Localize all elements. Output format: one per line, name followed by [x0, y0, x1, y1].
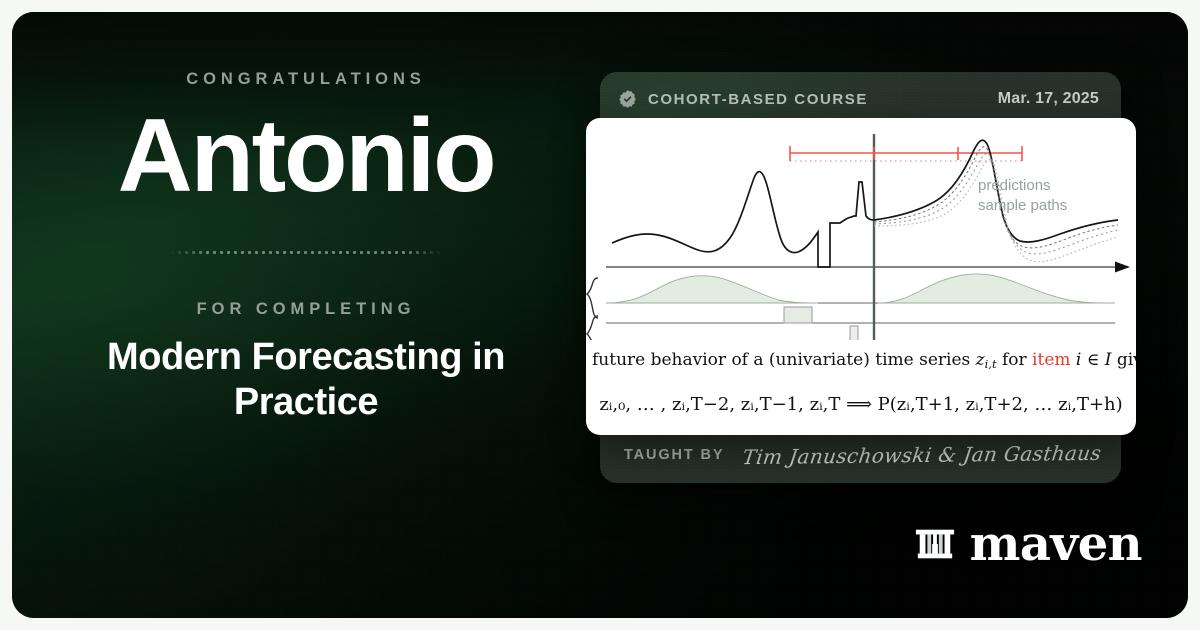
dotted-divider [169, 251, 443, 254]
course-title: Modern Forecasting in Practice [14, 335, 598, 424]
seasonality-density-right [878, 274, 1115, 303]
formula-variable-z-subscript: i,t [985, 357, 997, 371]
event-indicator-bar [850, 326, 858, 340]
formula-text-before: future behavior of a (univariate) time s… [592, 350, 976, 370]
for-completing-label: FOR COMPLETING [14, 300, 598, 319]
brace-lower-icon [587, 316, 598, 340]
formula-variable-z: z [976, 350, 985, 370]
course-card-footer: TAUGHT BY Tim Januschowski & Jan Gasthau… [600, 427, 1121, 483]
forecasting-chart: predictions sample paths [586, 118, 1136, 340]
course-kicker-label: COHORT-BASED COURSE [648, 91, 868, 108]
maven-logo: maven [914, 520, 1142, 568]
recipient-name: Antonio [14, 103, 598, 209]
chart-svg: predictions sample paths [586, 120, 1136, 340]
formula-sentence: future behavior of a (univariate) time s… [586, 350, 1136, 371]
chart-axis-arrowhead [1115, 262, 1130, 273]
formula-text-after: giv [1117, 350, 1136, 370]
formula-equation: zᵢ,₀, … , zᵢ,T−2, zᵢ,T−1, zᵢ,T ⟹ P(zᵢ,T+… [586, 394, 1136, 415]
forecast-horizon-span [790, 146, 1022, 161]
promotion-indicator-bar [784, 307, 812, 323]
congratulations-eyebrow: CONGRATULATIONS [14, 70, 598, 89]
observed-history-line [612, 172, 874, 267]
certificate-stage: CONGRATULATIONS Antonio FOR COMPLETING M… [0, 0, 1200, 630]
course-date: Mar. 17, 2025 [998, 90, 1099, 108]
maven-wordmark: maven [970, 520, 1142, 568]
course-kicker-group: COHORT-BASED COURSE [617, 89, 868, 110]
slide-preview-card: predictions sample paths future behavior… [586, 118, 1136, 435]
predictions-label-line2: sample paths [978, 197, 1067, 214]
brace-upper-icon [587, 278, 598, 318]
formula-text-mid: for [997, 350, 1032, 370]
slide-formula-block: future behavior of a (univariate) time s… [586, 340, 1136, 435]
maven-column-icon [914, 523, 956, 565]
taught-by-label: TAUGHT BY [624, 447, 724, 463]
formula-highlight-item: item [1032, 350, 1070, 370]
predictions-label-line1: predictions [978, 177, 1051, 194]
seasonality-density-left [606, 276, 818, 303]
instructor-signatures: Tim Januschowski & Jan Gasthaus [741, 441, 1103, 469]
formula-text-set: i ∈ I [1071, 350, 1117, 370]
verified-check-icon [617, 89, 638, 110]
certificate-text-column: CONGRATULATIONS Antonio FOR COMPLETING M… [14, 70, 598, 424]
